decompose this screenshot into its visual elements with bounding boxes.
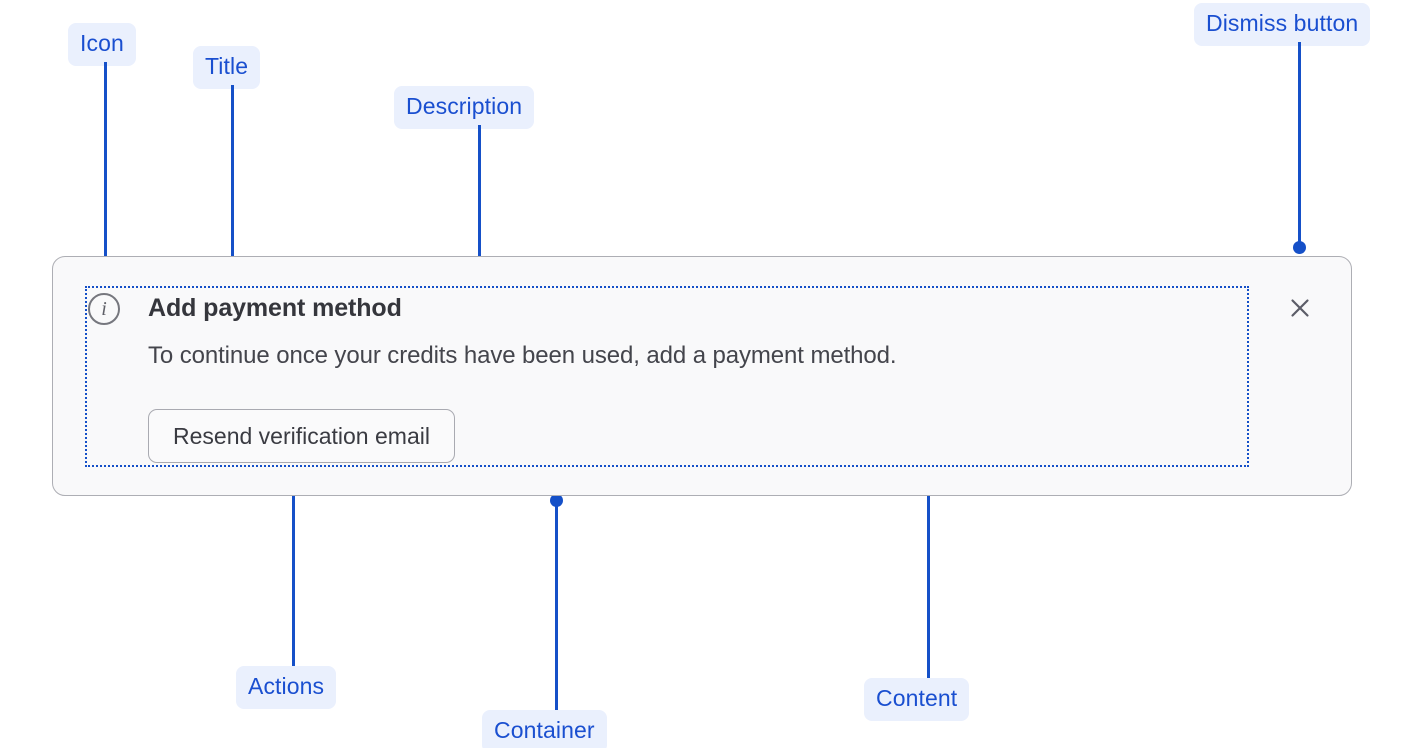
annotation-label-description: Description	[394, 86, 534, 129]
annotation-label-dismiss-button: Dismiss button	[1194, 3, 1370, 46]
connector-line-icon	[104, 62, 107, 270]
connector-line-title	[231, 85, 234, 281]
dismiss-button[interactable]	[1282, 290, 1318, 326]
annotation-label-content: Content	[864, 678, 969, 721]
annotation-label-title: Title	[193, 46, 260, 89]
annotation-label-actions: Actions	[236, 666, 336, 709]
info-circle-icon: i	[88, 293, 120, 325]
annotation-label-icon: Icon	[68, 23, 136, 66]
connector-dot-dismiss-button	[1293, 241, 1306, 254]
connector-line-container	[555, 500, 558, 710]
annotation-label-container: Container	[482, 710, 607, 748]
close-icon	[1285, 293, 1315, 323]
alert-description: To continue once your credits have been …	[148, 342, 896, 370]
alert-title: Add payment method	[148, 294, 402, 323]
connector-line-content	[927, 470, 930, 678]
annotated-alert-diagram: Icon Title Description Dismiss button Ac…	[0, 0, 1408, 748]
connector-line-dismiss-button	[1298, 42, 1301, 250]
resend-verification-email-button[interactable]: Resend verification email	[148, 409, 455, 463]
